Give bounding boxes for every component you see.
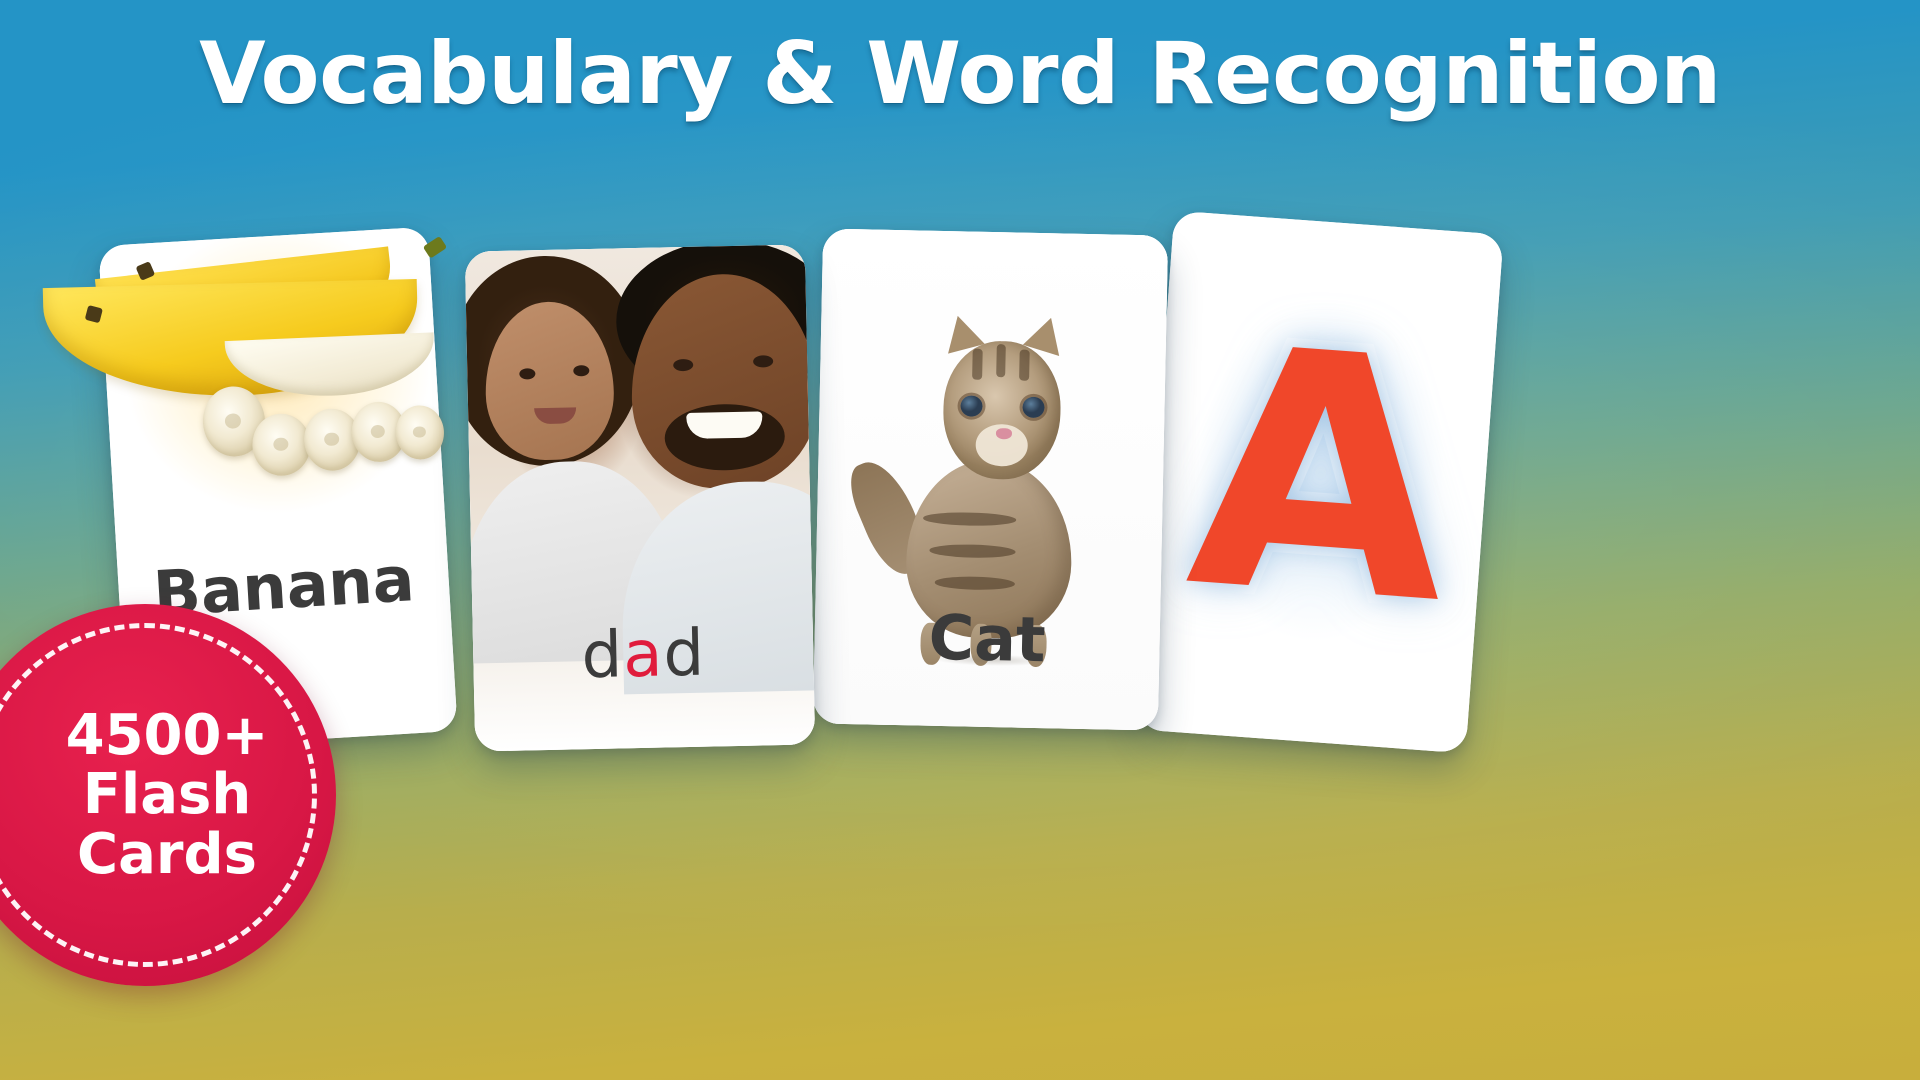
flashcard-letter-a[interactable]: A bbox=[1136, 211, 1503, 754]
banana-slice bbox=[251, 412, 313, 477]
flashcard-letter-a-surface: A bbox=[1136, 211, 1503, 754]
banana-image bbox=[88, 217, 467, 568]
page-title: Vocabulary & Word Recognition bbox=[0, 24, 1920, 124]
kitten-eye-right bbox=[1022, 397, 1044, 418]
kitten-stripe bbox=[923, 512, 1016, 526]
badge-line-count: 4500+ bbox=[0, 706, 358, 765]
letter-a-glyph: A bbox=[1182, 319, 1458, 634]
banana-stem-tip bbox=[423, 236, 447, 259]
father-teeth bbox=[686, 411, 763, 439]
banana-slice bbox=[394, 404, 445, 461]
badge-line-cards: Cards bbox=[0, 825, 358, 884]
badge-line-flash: Flash bbox=[0, 765, 358, 824]
kitten-ear-right bbox=[1023, 312, 1069, 356]
kitten-stripe bbox=[996, 344, 1006, 377]
kitten-head bbox=[942, 340, 1062, 481]
kitten-stripe bbox=[1019, 350, 1029, 381]
kitten-stripe bbox=[929, 544, 1015, 558]
flashcard-dad-surface: dad bbox=[465, 244, 815, 751]
kitten-eye-left bbox=[960, 396, 982, 417]
badge-text: 4500+ Flash Cards bbox=[0, 706, 358, 884]
flashcard-cat[interactable]: Cat bbox=[813, 228, 1168, 730]
promo-banner: Vocabulary & Word Recognition Banana bbox=[0, 0, 1920, 1080]
flashcard-dad-label: dad bbox=[473, 614, 814, 695]
flashcard-cat-surface: Cat bbox=[813, 228, 1168, 730]
kitten-stripe bbox=[972, 349, 982, 380]
kitten-ear-left bbox=[939, 311, 984, 354]
flashcard-dad[interactable]: dad bbox=[465, 244, 815, 751]
flashcard-cat-label: Cat bbox=[814, 598, 1160, 678]
kitten-stripe bbox=[935, 576, 1015, 590]
